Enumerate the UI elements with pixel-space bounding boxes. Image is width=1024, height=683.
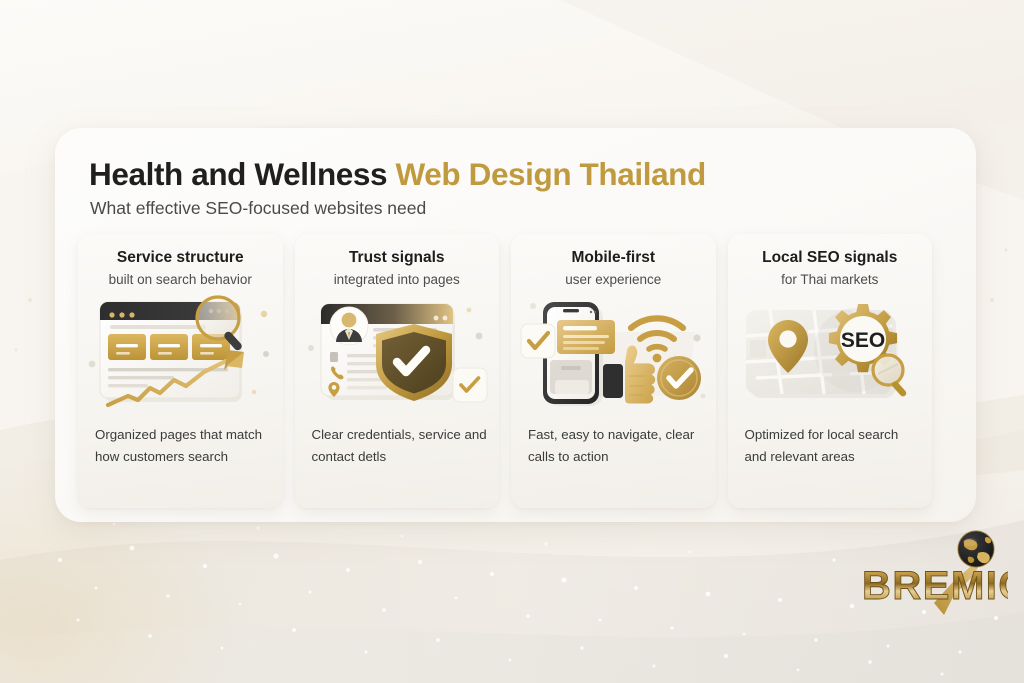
check-circle-gold	[657, 356, 701, 400]
logo-wordmark: BREMIC	[862, 564, 1008, 608]
card-subtitle: built on search behavior	[78, 272, 283, 287]
feature-card-service-structure[interactable]: Service structure built on search behavi…	[78, 234, 283, 508]
illustration-profile-card-shield-checkmark	[303, 292, 491, 410]
card-title: Service structure	[78, 249, 283, 267]
avatar	[330, 307, 368, 345]
page-title-accent: Web Design Thailand	[396, 156, 706, 192]
card-caption: Clear credentials, service and contact d…	[312, 424, 490, 468]
content-panel: Health and Wellness Web Design Thailand …	[55, 128, 976, 522]
page-subtitle: What effective SEO-focused websites need	[90, 198, 426, 219]
card-subtitle: for Thai markets	[728, 272, 933, 287]
page-title-plain: Health and Wellness	[89, 156, 387, 192]
card-caption: Optimized for local search and relevant …	[745, 424, 923, 468]
globe-icon	[958, 531, 994, 567]
gear-label: SEO	[840, 329, 884, 352]
feature-card-local-seo-signals[interactable]: Local SEO signals for Thai markets	[728, 234, 933, 508]
check-badge-small	[453, 368, 487, 402]
check-badge-left	[521, 324, 555, 358]
illustration-smartphone-thumbs-up-wifi-check	[519, 292, 707, 410]
card-caption: Fast, easy to navigate, clear calls to a…	[528, 424, 706, 468]
card-subtitle: integrated into pages	[295, 272, 500, 287]
illustration-map-pin-seo-gear-magnifier: SEO	[736, 292, 924, 410]
feature-card-trust-signals[interactable]: Trust signals integrated into pages	[295, 234, 500, 508]
feature-card-mobile-first[interactable]: Mobile-first user experience	[511, 234, 716, 508]
card-title: Trust signals	[295, 249, 500, 267]
card-subtitle: user experience	[511, 272, 716, 287]
card-title: Mobile-first	[511, 249, 716, 267]
card-title: Local SEO signals	[728, 249, 933, 267]
page-title: Health and Wellness Web Design Thailand	[89, 156, 706, 193]
infographic-canvas: Health and Wellness Web Design Thailand …	[0, 0, 1024, 683]
illustration-browser-window-search-growth-chart	[86, 292, 274, 410]
feature-card-row: Service structure built on search behavi…	[78, 234, 953, 508]
brand-logo[interactable]: BREMIC	[848, 527, 1008, 622]
card-caption: Organized pages that match how customers…	[95, 424, 273, 468]
